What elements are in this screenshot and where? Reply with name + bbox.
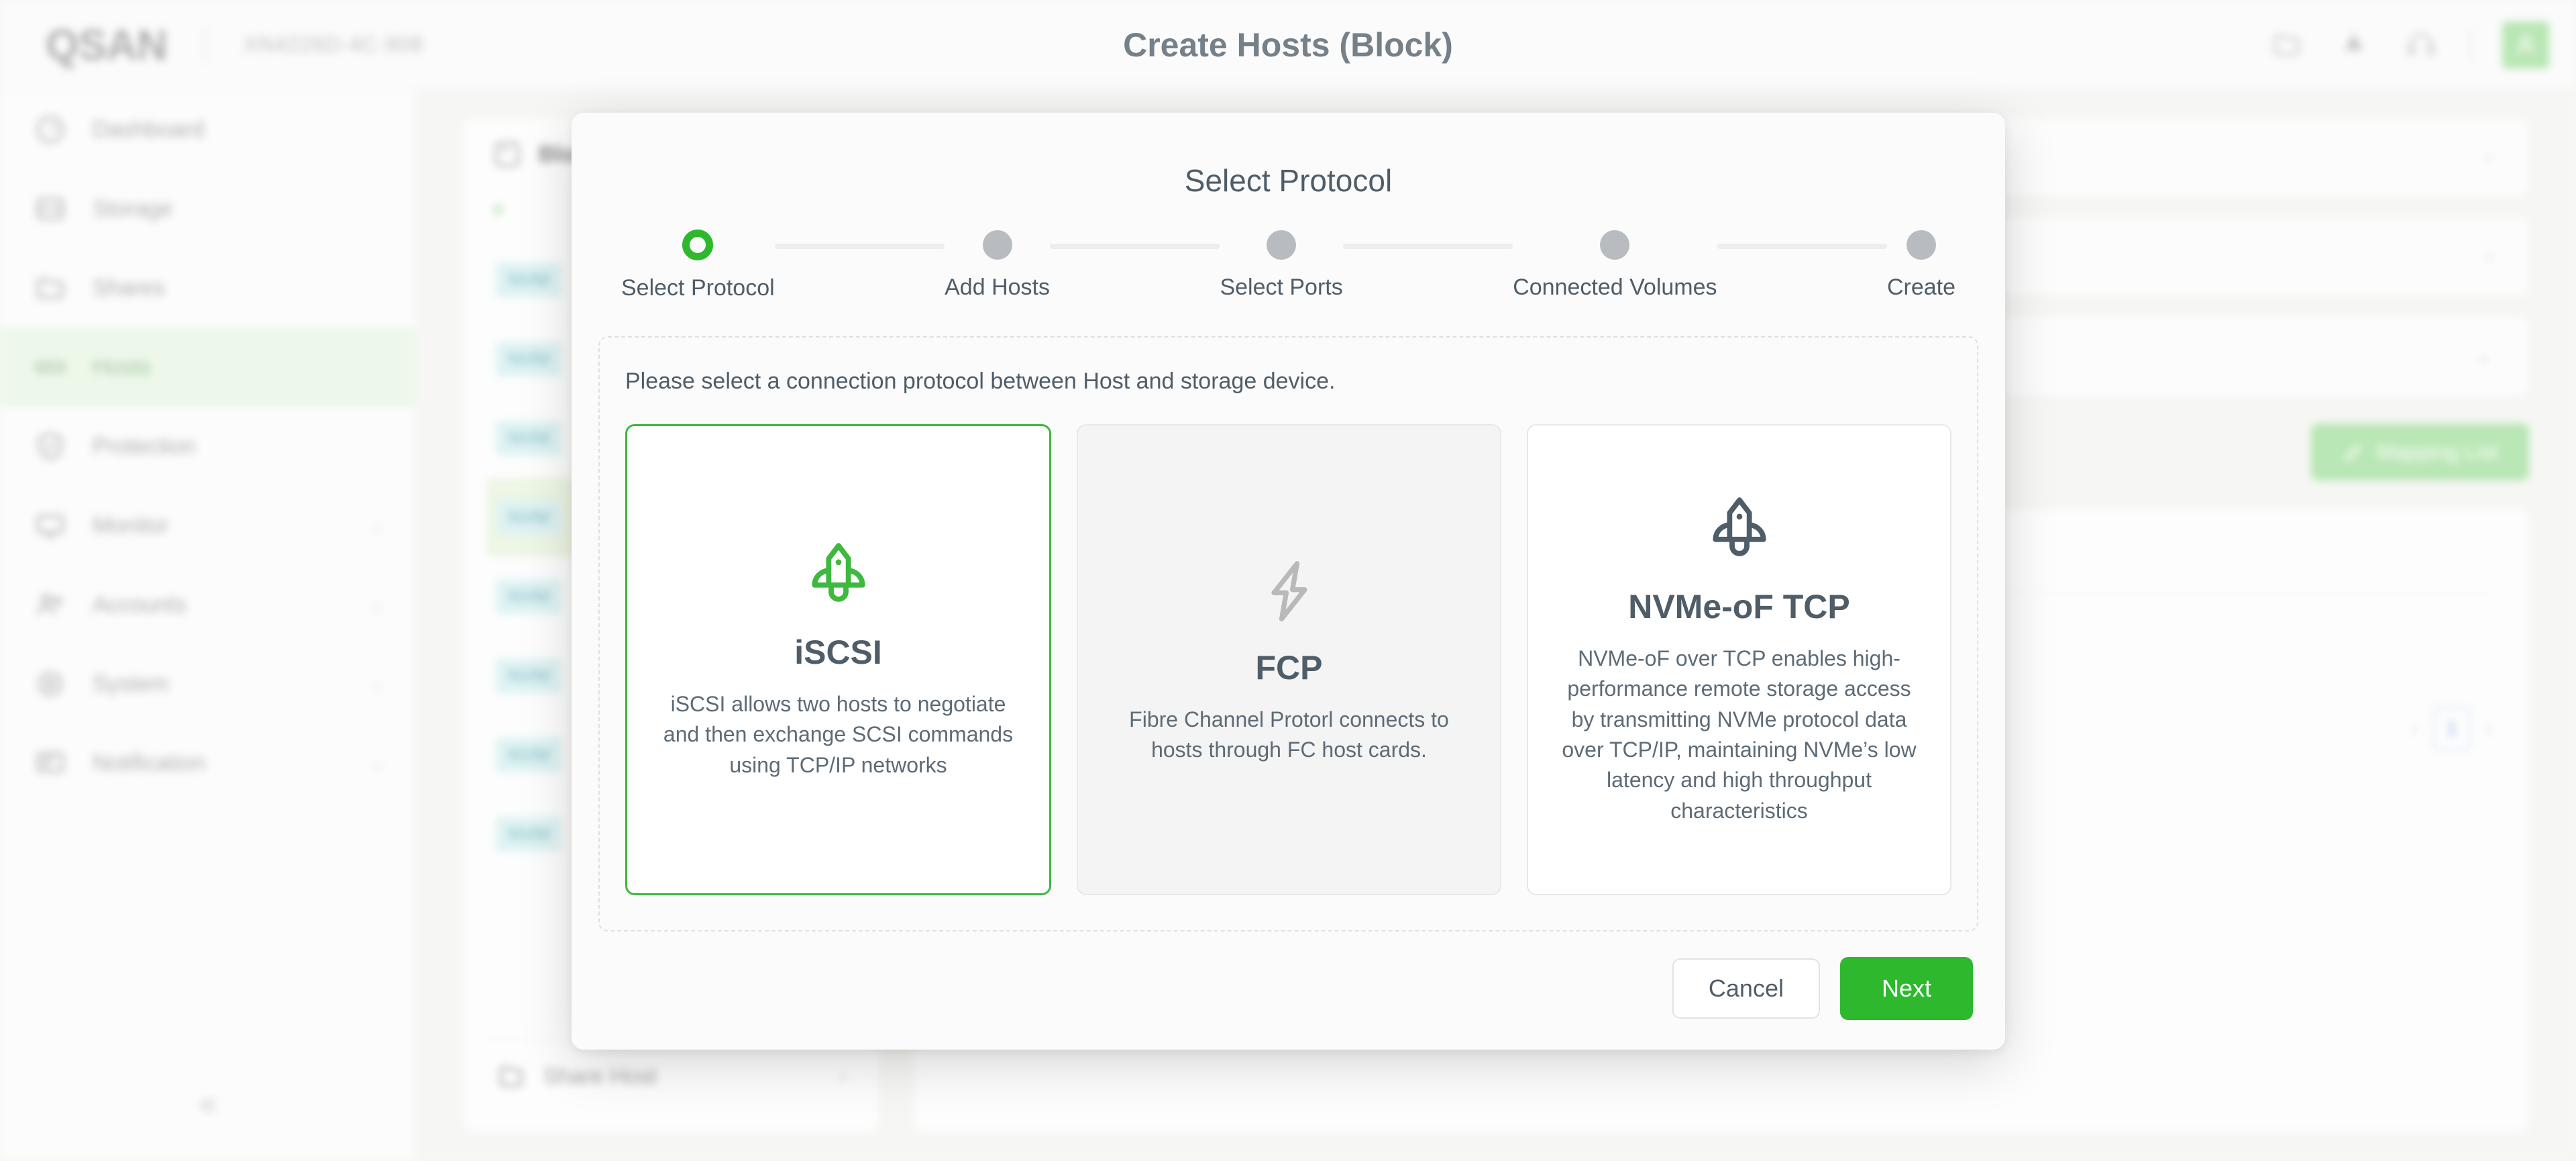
step-dot <box>1907 230 1936 260</box>
next-button[interactable]: Next <box>1840 957 1973 1020</box>
step-label: Select Ports <box>1220 274 1342 301</box>
rocket-icon <box>802 539 875 613</box>
step-dot <box>1600 230 1629 260</box>
step-connector <box>1343 244 1513 249</box>
cancel-button[interactable]: Cancel <box>1672 958 1820 1019</box>
protocol-name: FCP <box>1256 648 1323 687</box>
lightning-bolt-icon <box>1252 554 1326 628</box>
step-connector <box>775 244 945 249</box>
step-connected-volumes[interactable]: Connected Volumes <box>1513 230 1717 301</box>
protocol-card-fcp[interactable]: FCP Fibre Channel Protorl connects to ho… <box>1077 424 1501 895</box>
step-select-ports[interactable]: Select Ports <box>1220 230 1342 301</box>
rocket-icon <box>1703 493 1776 567</box>
protocol-description: Fibre Channel Protorl connects to hosts … <box>1105 705 1473 766</box>
step-label: Connected Volumes <box>1513 274 1717 301</box>
step-create[interactable]: Create <box>1887 230 1955 301</box>
step-label: Create <box>1887 274 1955 301</box>
protocol-name: NVMe-oF TCP <box>1628 587 1850 626</box>
protocol-card-nvmeof-tcp[interactable]: NVMe-oF TCP NVMe-oF over TCP enables hig… <box>1527 424 1951 895</box>
step-dot-active <box>682 230 713 260</box>
protocol-description: NVMe-oF over TCP enables high-performanc… <box>1555 644 1923 827</box>
protocol-name: iSCSI <box>794 633 882 672</box>
protocol-selection-panel: Please select a connection protocol betw… <box>598 336 1978 931</box>
step-connector <box>1717 244 1887 249</box>
step-dot <box>983 230 1012 260</box>
step-add-hosts[interactable]: Add Hosts <box>945 230 1050 301</box>
step-label: Select Protocol <box>621 275 775 301</box>
wizard-stepper: Select Protocol Add Hosts Select Ports C… <box>621 230 1955 301</box>
step-dot <box>1267 230 1296 260</box>
step-select-protocol[interactable]: Select Protocol <box>621 230 775 301</box>
protocol-description: iSCSI allows two hosts to negotiate and … <box>654 689 1022 780</box>
step-label: Add Hosts <box>945 274 1050 301</box>
step-connector <box>1050 244 1220 249</box>
instruction-text: Please select a connection protocol betw… <box>625 368 1951 395</box>
protocol-card-iscsi[interactable]: iSCSI iSCSI allows two hosts to negotiat… <box>625 424 1051 895</box>
protocol-card-group: iSCSI iSCSI allows two hosts to negotiat… <box>625 424 1951 895</box>
modal-footer: Cancel Next <box>598 957 1978 1020</box>
modal-title: Select Protocol <box>598 162 1978 199</box>
create-hosts-modal: Select Protocol Select Protocol Add Host… <box>572 113 2005 1050</box>
